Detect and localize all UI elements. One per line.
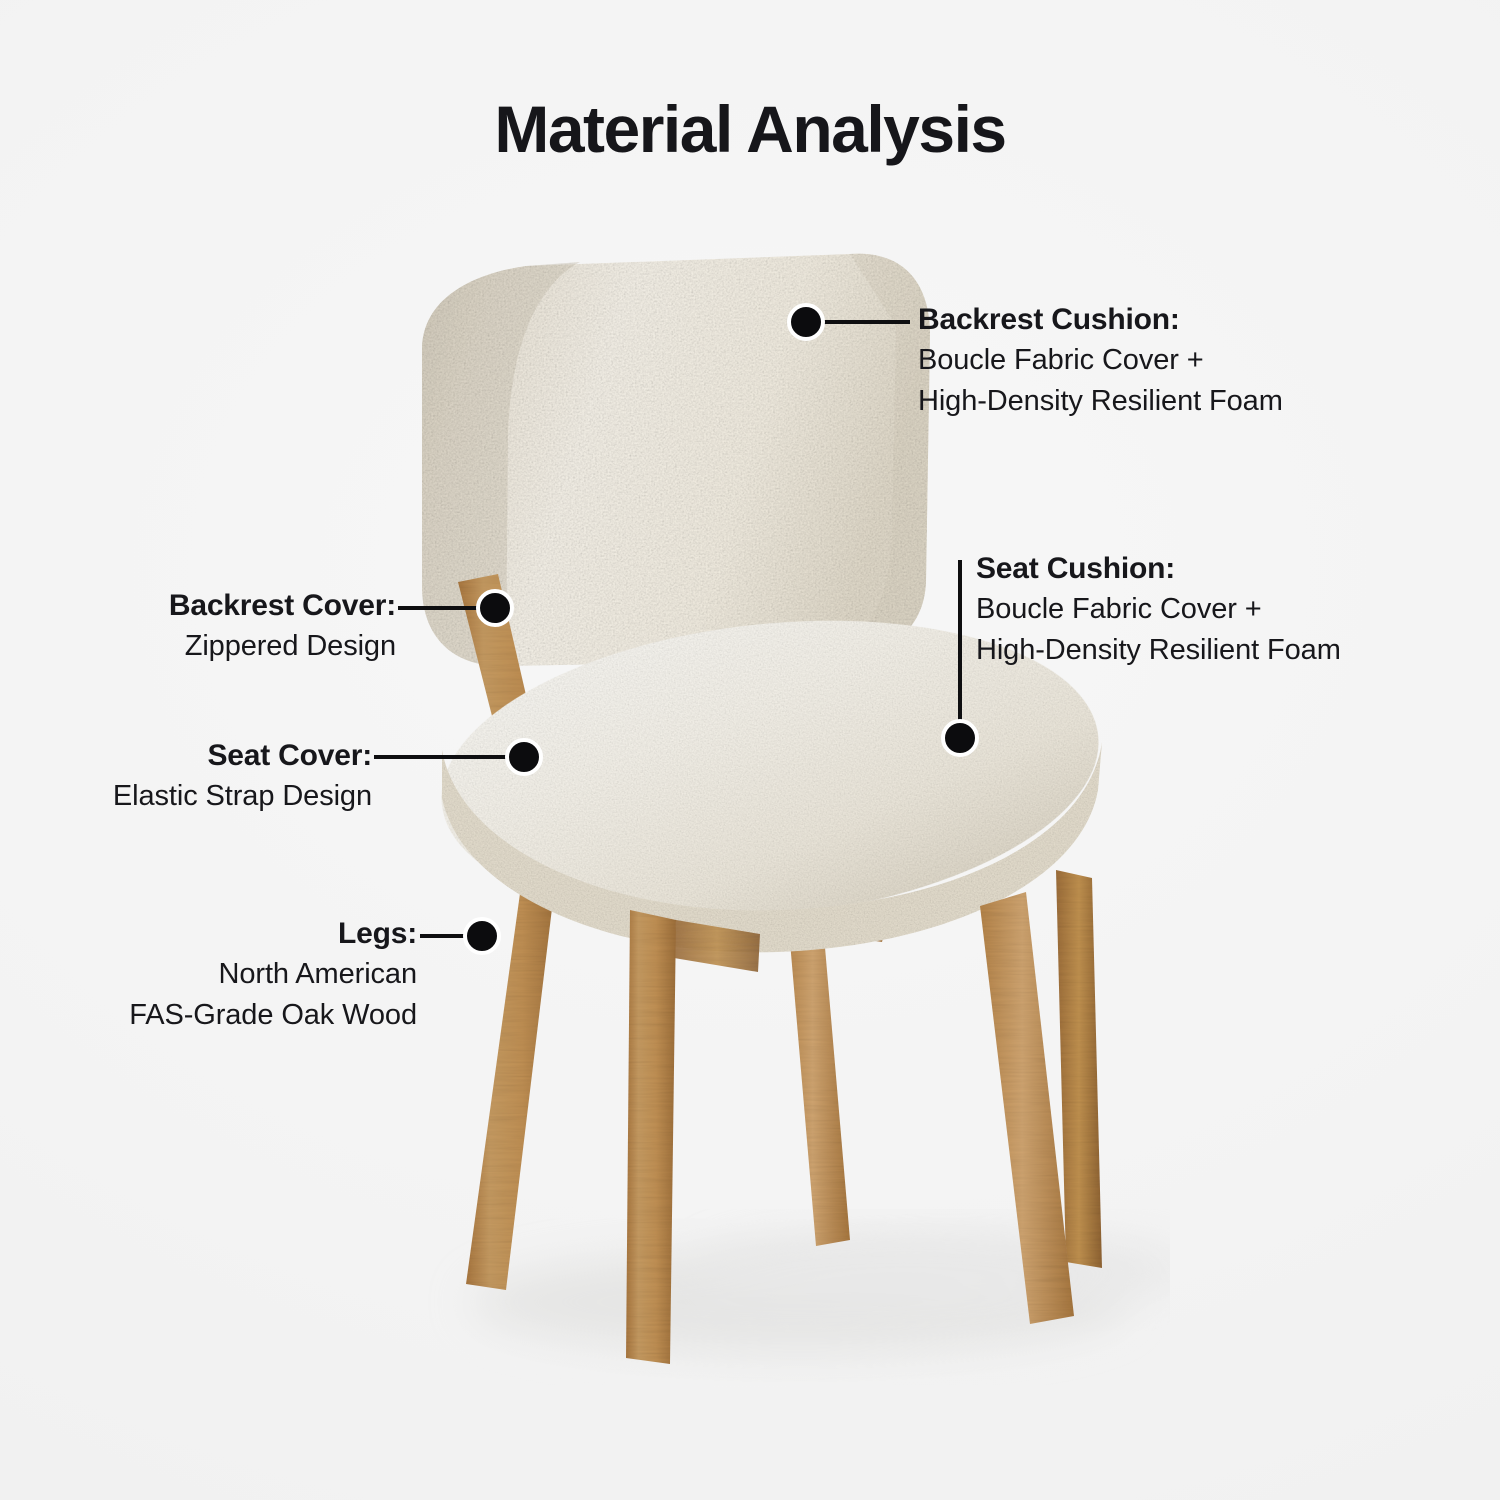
callout-heading: Backrest Cushion: <box>918 299 1283 340</box>
marker-dot-seat-cushion[interactable] <box>941 719 979 757</box>
leader-line-seat-cushion <box>958 560 962 740</box>
callout-heading: Backrest Cover: <box>169 585 396 626</box>
callout-line-1: Boucle Fabric Cover + <box>918 340 1283 381</box>
callout-line-2: FAS-Grade Oak Wood <box>129 995 417 1036</box>
callout-seat-cover: Seat Cover: Elastic Strap Design <box>113 735 372 817</box>
callout-line-2: High-Density Resilient Foam <box>918 381 1283 422</box>
callout-heading: Legs: <box>129 913 417 954</box>
callout-line-1: Zippered Design <box>169 626 396 667</box>
infographic-canvas: Material Analysis <box>0 0 1500 1500</box>
leader-line-seat-cover <box>374 755 526 759</box>
leader-line-backrest-cushion <box>822 320 910 324</box>
callout-seat-cushion: Seat Cushion: Boucle Fabric Cover + High… <box>976 548 1341 671</box>
callout-backrest-cushion: Backrest Cushion: Boucle Fabric Cover + … <box>918 299 1283 422</box>
callout-line-1: Elastic Strap Design <box>113 776 372 817</box>
marker-dot-backrest-cover[interactable] <box>476 589 514 627</box>
callout-line-1: Boucle Fabric Cover + <box>976 589 1341 630</box>
page-title: Material Analysis <box>0 95 1500 164</box>
callout-heading: Seat Cushion: <box>976 548 1341 589</box>
marker-dot-legs[interactable] <box>463 917 501 955</box>
callout-backrest-cover: Backrest Cover: Zippered Design <box>169 585 396 667</box>
callout-line-2: High-Density Resilient Foam <box>976 630 1341 671</box>
marker-dot-backrest-cushion[interactable] <box>787 303 825 341</box>
callout-line-1: North American <box>129 954 417 995</box>
callout-legs: Legs: North American FAS-Grade Oak Wood <box>129 913 417 1036</box>
marker-dot-seat-cover[interactable] <box>505 738 543 776</box>
callout-heading: Seat Cover: <box>113 735 372 776</box>
